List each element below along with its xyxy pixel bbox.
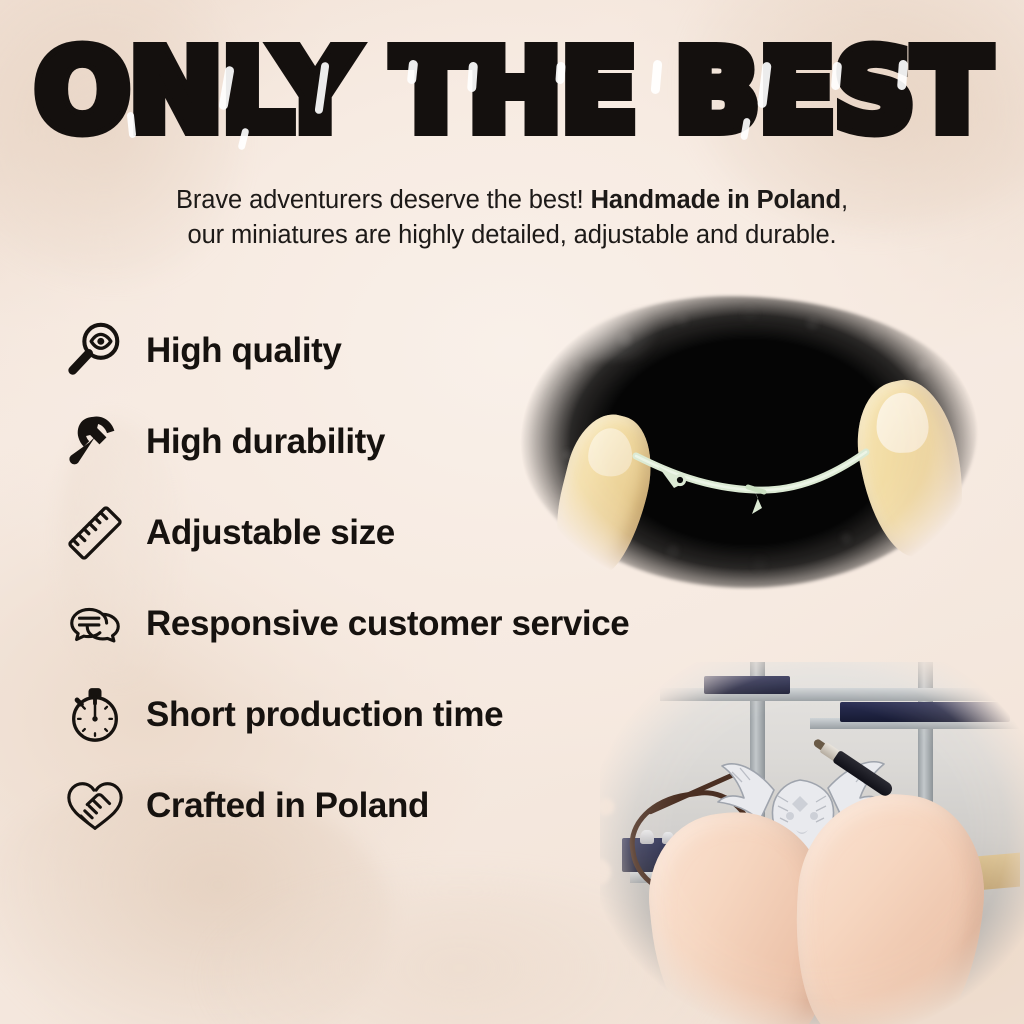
magnifier-eye-icon: [62, 318, 128, 384]
miniature-tray: [840, 702, 1010, 722]
subtitle-lead: Brave adventurers deserve the best!: [176, 186, 584, 214]
bendable-miniature-part: [628, 432, 880, 518]
handshake-heart-icon: [62, 773, 128, 839]
ruler-icon: [62, 500, 128, 566]
headline-block: ONLY THE BEST: [0, 0, 1024, 170]
subtitle-line2: our miniatures are highly detailed, adju…: [187, 221, 836, 249]
hammer-icon: [62, 409, 128, 475]
flexible-miniature-part-photo: [510, 282, 990, 602]
subtitle-comma: ,: [841, 186, 848, 214]
promo-poster: ONLY THE BEST Brave adventurers deserve …: [0, 0, 1024, 1024]
feature-label: High durability: [146, 422, 385, 462]
fingernail: [875, 392, 929, 454]
speech-bubbles-icon: [62, 591, 128, 657]
fingernail: [587, 428, 633, 478]
feature-label: High quality: [146, 331, 341, 371]
subtitle: Brave adventurers deserve the best! Hand…: [0, 183, 1024, 253]
feature-label: Crafted in Poland: [146, 786, 429, 826]
feature-label: Adjustable size: [146, 513, 395, 553]
subtitle-emphasis: Handmade in Poland: [591, 186, 841, 214]
photo-torn-edge: [600, 662, 666, 1024]
miniature-tray: [704, 676, 790, 694]
feature-label: Responsive customer service: [146, 604, 629, 644]
photo-smoke-edge: [530, 290, 660, 360]
feature-label: Short production time: [146, 695, 503, 735]
stopwatch-icon: [62, 682, 128, 748]
page-title: ONLY THE BEST: [0, 36, 1024, 148]
painting-dragon-miniature-photo: [600, 662, 1024, 1024]
